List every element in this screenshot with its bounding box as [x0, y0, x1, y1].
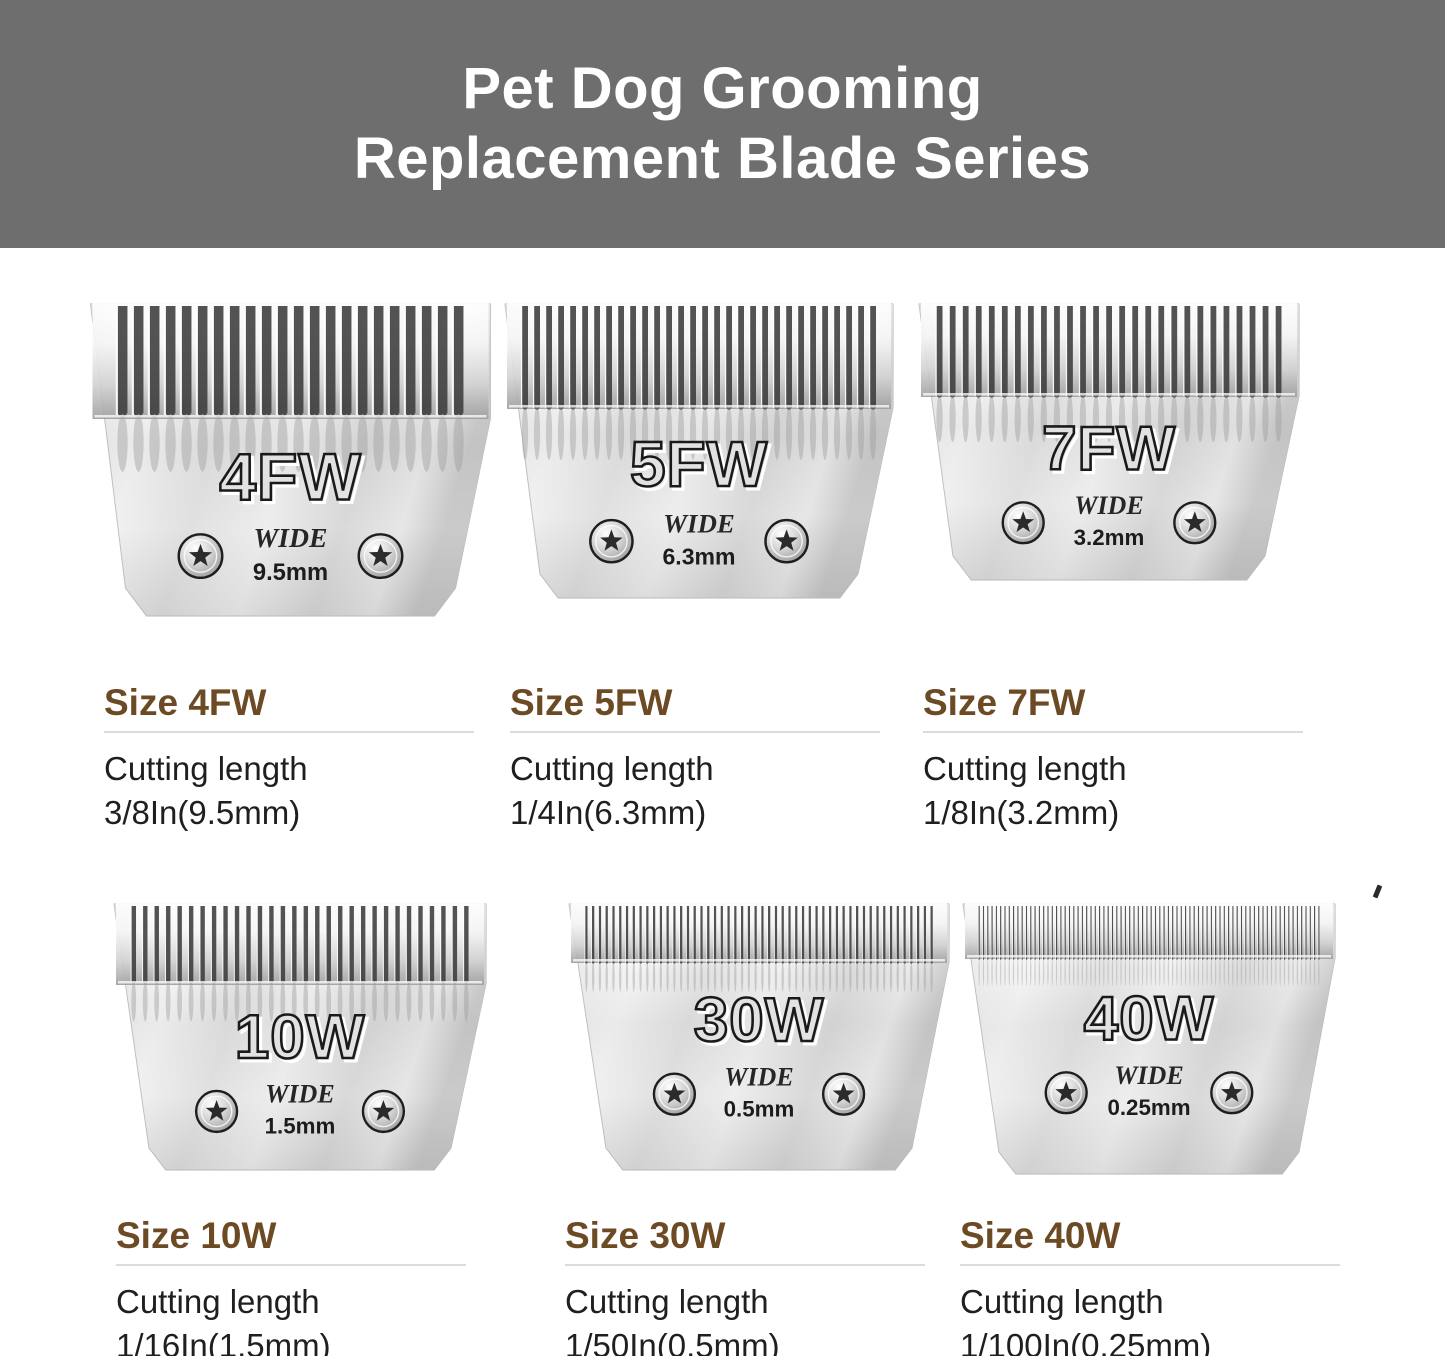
- product-cell-30w: 30W30WWIDE0.5mm Size 30W Cutting length …: [565, 900, 965, 1190]
- scan-artifact-speck: [1373, 885, 1383, 899]
- blade-engraving-number: 10W: [235, 1003, 365, 1072]
- cutting-length-30w: Cutting length 1/50In(0.5mm): [565, 1280, 925, 1356]
- blade-illustration-7fw: 7FW7FWWIDE3.2mm: [915, 300, 1303, 582]
- cutting-length-value: 1/50In(0.5mm): [565, 1324, 925, 1356]
- cutting-length-label: Cutting length: [960, 1280, 1340, 1324]
- blade-engraving-number: 4FW: [219, 439, 361, 513]
- size-title-5fw: Size 5FW: [510, 682, 880, 724]
- caption-4fw: Size 4FW Cutting length 3/8In(9.5mm): [104, 682, 474, 835]
- cutting-length-value: 1/100In(0.25mm): [960, 1324, 1340, 1356]
- caption-40w: Size 40W Cutting length 1/100In(0.25mm): [960, 1215, 1340, 1356]
- title-divider: [960, 1264, 1340, 1266]
- blade-screw-right: [823, 1074, 864, 1115]
- product-row-bottom: 10W10WWIDE1.5mm Size 10W Cutting length …: [0, 900, 1445, 1356]
- blade-wide-label: WIDE: [724, 1063, 793, 1092]
- banner-title-line-1: Pet Dog Grooming: [462, 54, 982, 124]
- product-cell-5fw: 5FW5FWWIDE6.3mm Size 5FW Cutting length …: [500, 300, 920, 620]
- cutting-length-value: 1/16In(1.5mm): [116, 1324, 466, 1356]
- blade-image-40w: 40W40WWIDE0.25mm: [960, 900, 1360, 1190]
- blade-wide-label: WIDE: [663, 508, 735, 538]
- blade-mm-label: 1.5mm: [265, 1114, 336, 1139]
- cutting-length-label: Cutting length: [565, 1280, 925, 1324]
- blade-mm-label: 6.3mm: [663, 543, 736, 569]
- title-divider: [510, 731, 880, 733]
- size-title-30w: Size 30W: [565, 1215, 925, 1257]
- blade-wide-label: WIDE: [1074, 491, 1143, 520]
- size-title-40w: Size 40W: [960, 1215, 1340, 1257]
- cutting-length-40w: Cutting length 1/100In(0.25mm): [960, 1280, 1340, 1356]
- product-cell-40w: 40W40WWIDE0.25mm Size 40W Cutting length…: [960, 900, 1360, 1190]
- cutting-length-label: Cutting length: [104, 747, 474, 791]
- cutting-length-value: 3/8In(9.5mm): [104, 791, 474, 835]
- size-title-10w: Size 10W: [116, 1215, 466, 1257]
- size-title-4fw: Size 4FW: [104, 682, 474, 724]
- blade-screw-left: [590, 520, 632, 562]
- caption-7fw: Size 7FW Cutting length 1/8In(3.2mm): [923, 682, 1303, 835]
- product-cell-7fw: 7FW7FWWIDE3.2mm Size 7FW Cutting length …: [915, 300, 1335, 620]
- blade-screw-left: [179, 534, 223, 578]
- blade-mm-label: 9.5mm: [253, 559, 328, 586]
- title-divider: [104, 731, 474, 733]
- cutting-length-4fw: Cutting length 3/8In(9.5mm): [104, 747, 474, 835]
- blade-screw-right: [359, 534, 403, 578]
- blade-engraving-number: 30W: [694, 986, 824, 1055]
- blade-mm-label: 0.25mm: [1107, 1095, 1190, 1120]
- product-cell-4fw: 4FW4FWWIDE9.5mm Size 4FW Cutting length …: [88, 300, 508, 620]
- blade-screw-right: [765, 520, 807, 562]
- caption-30w: Size 30W Cutting length 1/50In(0.5mm): [565, 1215, 925, 1356]
- blade-engraving-number: 5FW: [630, 428, 768, 500]
- blade-wide-label: WIDE: [1114, 1061, 1183, 1090]
- cutting-length-label: Cutting length: [510, 747, 880, 791]
- caption-5fw: Size 5FW Cutting length 1/4In(6.3mm): [510, 682, 880, 835]
- blade-mm-label: 3.2mm: [1074, 525, 1145, 550]
- blade-wide-label: WIDE: [265, 1080, 334, 1109]
- blade-image-10w: 10W10WWIDE1.5mm: [110, 900, 510, 1190]
- blade-illustration-4fw: 4FW4FWWIDE9.5mm: [88, 300, 493, 618]
- cutting-length-value: 1/8In(3.2mm): [923, 791, 1303, 835]
- blade-image-7fw: 7FW7FWWIDE3.2mm: [915, 300, 1335, 620]
- blade-illustration-40w: 40W40WWIDE0.25mm: [960, 900, 1338, 1176]
- blade-mm-label: 0.5mm: [724, 1097, 795, 1122]
- cutting-length-label: Cutting length: [116, 1280, 466, 1324]
- blade-screw-right: [1211, 1072, 1252, 1113]
- blade-screw-left: [196, 1091, 237, 1132]
- blade-image-5fw: 5FW5FWWIDE6.3mm: [500, 300, 920, 620]
- blade-screw-left: [654, 1074, 695, 1115]
- header-banner: Pet Dog Grooming Replacement Blade Serie…: [0, 0, 1445, 248]
- size-title-7fw: Size 7FW: [923, 682, 1303, 724]
- product-row-top: 4FW4FWWIDE9.5mm Size 4FW Cutting length …: [0, 300, 1445, 860]
- blade-illustration-10w: 10W10WWIDE1.5mm: [110, 900, 490, 1172]
- product-cell-10w: 10W10WWIDE1.5mm Size 10W Cutting length …: [110, 900, 510, 1190]
- title-divider: [565, 1264, 925, 1266]
- banner-title-line-2: Replacement Blade Series: [354, 124, 1091, 194]
- cutting-length-5fw: Cutting length 1/4In(6.3mm): [510, 747, 880, 835]
- cutting-length-label: Cutting length: [923, 747, 1303, 791]
- blade-screw-left: [1046, 1072, 1087, 1113]
- blade-engraving-number: 40W: [1084, 984, 1214, 1053]
- blade-screw-right: [363, 1091, 404, 1132]
- blade-wide-label: WIDE: [254, 522, 328, 553]
- title-divider: [923, 731, 1303, 733]
- blade-screw-left: [1003, 502, 1044, 543]
- cutting-length-10w: Cutting length 1/16In(1.5mm): [116, 1280, 466, 1356]
- blade-illustration-5fw: 5FW5FWWIDE6.3mm: [500, 300, 898, 600]
- blade-illustration-30w: 30W30WWIDE0.5mm: [565, 900, 953, 1172]
- infographic-page: Pet Dog Grooming Replacement Blade Serie…: [0, 0, 1445, 1356]
- cutting-length-7fw: Cutting length 1/8In(3.2mm): [923, 747, 1303, 835]
- cutting-length-value: 1/4In(6.3mm): [510, 791, 880, 835]
- blade-image-4fw: 4FW4FWWIDE9.5mm: [88, 300, 508, 620]
- caption-10w: Size 10W Cutting length 1/16In(1.5mm): [116, 1215, 466, 1356]
- title-divider: [116, 1264, 466, 1266]
- blade-image-30w: 30W30WWIDE0.5mm: [565, 900, 965, 1190]
- blade-engraving-number: 7FW: [1042, 414, 1176, 483]
- blade-screw-right: [1174, 502, 1215, 543]
